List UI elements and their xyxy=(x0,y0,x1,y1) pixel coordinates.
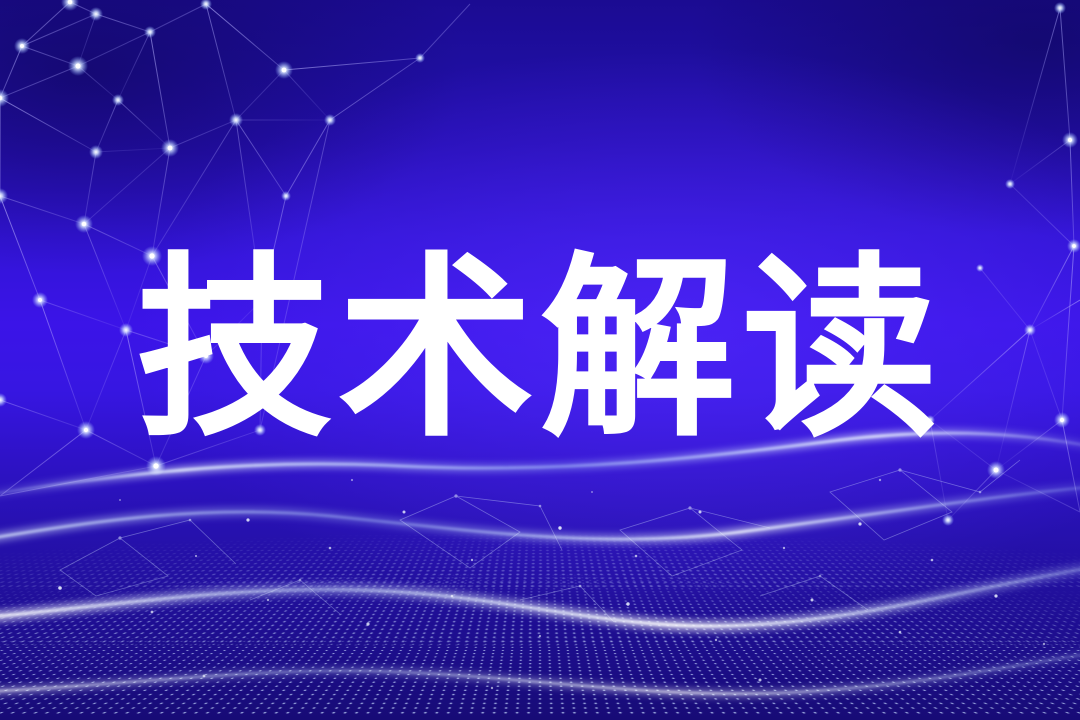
page-title: 技术解读 xyxy=(136,252,944,448)
dot-mesh-near xyxy=(0,637,1080,716)
dot-mesh-mid xyxy=(0,574,1080,646)
technology-banner: 技术解读 xyxy=(0,0,1080,720)
headline-block: 技术解读 xyxy=(0,250,1080,450)
